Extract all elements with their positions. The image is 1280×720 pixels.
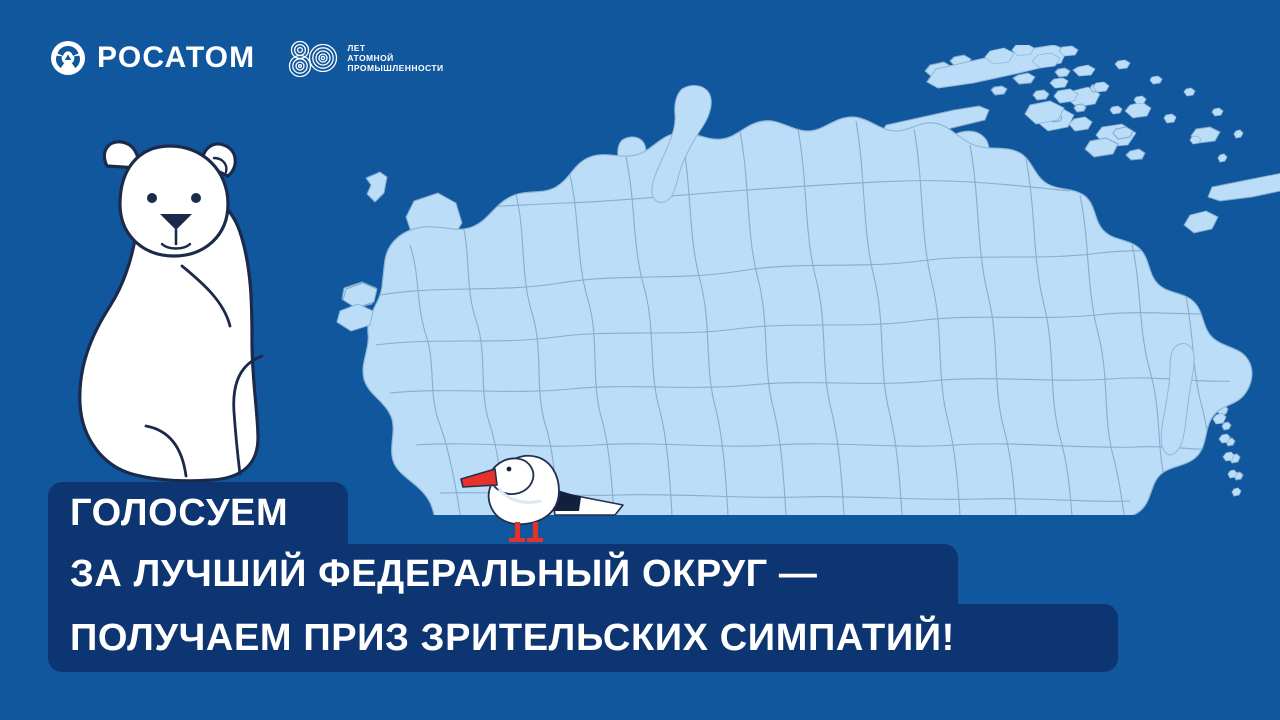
anniversary-line3: ПРОМЫШЛЕННОСТИ [347,63,443,73]
anniversary-line1: ЛЕТ [347,43,365,53]
bear-eye-right [191,193,201,203]
anniversary-80-mark-icon [285,38,338,78]
poster-canvas: РОСАТОМ [0,0,1280,720]
bear-eye-left [147,193,157,203]
headline-line-3: ПОЛУЧАЕМ ПРИЗ ЗРИТЕЛЬСКИХ СИМПАТИЙ! [48,604,1118,672]
rosatom-logo[interactable]: РОСАТОМ [50,40,255,76]
headline-line-1: ГОЛОСУЕМ [48,482,348,544]
anniversary-line2: АТОМНОЙ [347,53,393,63]
rosatom-atom-mark-icon [50,40,86,76]
gull-eye [507,467,512,472]
header-logos: РОСАТОМ [50,38,444,78]
polar-bear-illustration [62,128,302,498]
rosatom-wordmark: РОСАТОМ [97,43,255,73]
anniversary-caption: ЛЕТ АТОМНОЙ ПРОМЫШЛЕННОСТИ [347,43,443,73]
headline-banner: ГОЛОСУЕМ ЗА ЛУЧШИЙ ФЕДЕРАЛЬНЫЙ ОКРУГ — П… [48,482,1118,672]
anniversary-logo[interactable]: ЛЕТ АТОМНОЙ ПРОМЫШЛЕННОСТИ [285,38,443,78]
headline-line-2: ЗА ЛУЧШИЙ ФЕДЕРАЛЬНЫЙ ОКРУГ — [48,544,958,604]
